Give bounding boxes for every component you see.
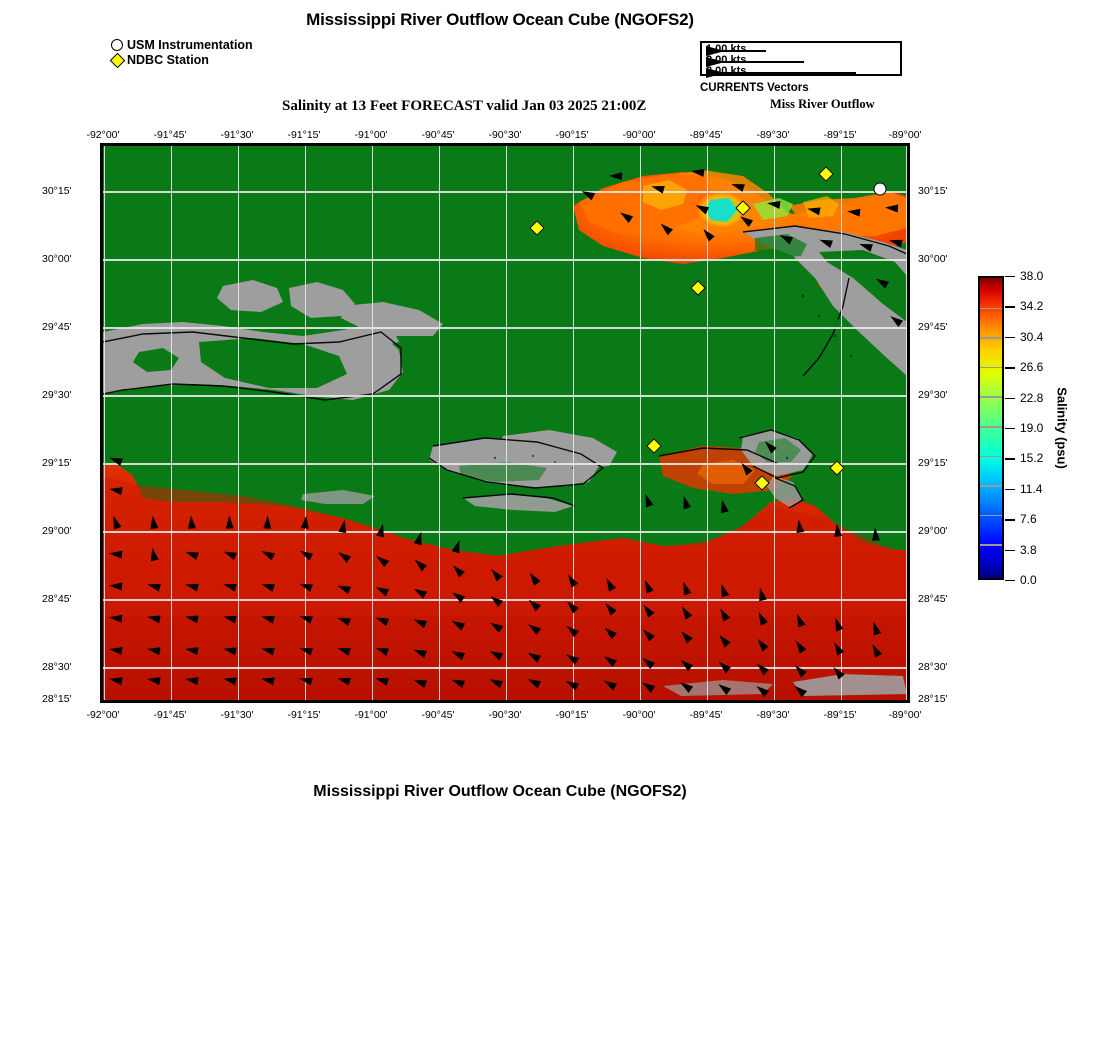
minor-tick	[116, 143, 117, 144]
minor-tick	[331, 143, 332, 144]
minor-tick	[197, 702, 198, 703]
bottom-caption: Mississippi River Outflow Ocean Cube (NG…	[0, 783, 1000, 801]
minor-tick	[773, 702, 774, 703]
y-tick-label: 29°00'	[42, 525, 72, 537]
x-tick-label: -92°00'	[86, 709, 119, 721]
minor-tick	[277, 702, 278, 703]
minor-tick	[840, 702, 841, 703]
minor-tick	[100, 268, 101, 269]
minor-tick	[411, 702, 412, 703]
minor-tick	[224, 143, 225, 144]
y-tick-label-right: 29°45'	[918, 321, 948, 333]
colorbar-tick	[1005, 337, 1015, 338]
y-tick-label-right: 30°00'	[918, 253, 948, 265]
minor-tick	[909, 472, 910, 473]
legend-item-usm: USM Instrumentation	[110, 38, 253, 52]
minor-tick	[100, 255, 101, 256]
marker-legend: USM Instrumentation NDBC Station	[110, 38, 253, 68]
minor-tick	[100, 690, 101, 691]
y-tick-label: 28°15'	[42, 693, 72, 705]
colorbar-tick	[1005, 489, 1015, 490]
y-tick-label-right: 29°30'	[918, 389, 948, 401]
minor-tick	[358, 702, 359, 703]
minor-tick	[773, 143, 774, 144]
minor-tick	[100, 200, 101, 201]
y-tick-label: 29°15'	[42, 457, 72, 469]
x-tick-label: -90°00'	[622, 709, 655, 721]
minor-tick	[438, 702, 439, 703]
minor-tick	[909, 690, 910, 691]
minor-tick	[652, 143, 653, 144]
minor-tick	[706, 702, 707, 703]
minor-tick	[909, 146, 910, 147]
minor-tick	[800, 143, 801, 144]
minor-tick	[666, 702, 667, 703]
x-tick-label: -90°30'	[488, 709, 521, 721]
minor-tick	[100, 608, 101, 609]
minor-tick	[157, 702, 158, 703]
minor-tick	[813, 702, 814, 703]
minor-tick	[224, 702, 225, 703]
x-tick-label: -92°00'	[86, 129, 119, 141]
minor-tick	[478, 143, 479, 144]
minor-tick	[304, 143, 305, 144]
minor-tick	[103, 702, 104, 703]
minor-tick	[384, 702, 385, 703]
colorbar-tick-label: 19.0	[1020, 421, 1043, 435]
minor-tick	[909, 595, 910, 596]
minor-tick	[867, 702, 868, 703]
minor-tick	[585, 143, 586, 144]
minor-tick	[559, 143, 560, 144]
minor-tick	[909, 581, 910, 582]
minor-tick	[679, 143, 680, 144]
vector-shaft-3	[706, 72, 856, 74]
x-tick-label: -91°00'	[354, 709, 387, 721]
minor-tick	[786, 702, 787, 703]
minor-tick	[894, 143, 895, 144]
colorbar-tick-label: 34.2	[1020, 299, 1043, 313]
colorbar-tick	[1005, 367, 1015, 368]
currents-vector-key: 1.00 kts 2.00 kts 3.00 kts	[700, 41, 902, 76]
minor-tick	[358, 143, 359, 144]
minor-tick	[100, 445, 101, 446]
x-tick-label: -89°30'	[756, 709, 789, 721]
minor-tick	[909, 323, 910, 324]
colorbar-gradient	[978, 276, 1004, 580]
minor-tick	[679, 702, 680, 703]
minor-tick	[909, 391, 910, 392]
minor-tick	[786, 143, 787, 144]
minor-tick	[100, 432, 101, 433]
minor-tick	[693, 702, 694, 703]
minor-tick	[880, 702, 881, 703]
minor-tick	[909, 486, 910, 487]
minor-tick	[909, 255, 910, 256]
y-tick-label-right: 30°15'	[918, 185, 948, 197]
minor-tick	[317, 143, 318, 144]
minor-tick	[559, 702, 560, 703]
minor-tick	[100, 418, 101, 419]
minor-tick	[100, 459, 101, 460]
map-canvas	[103, 146, 907, 700]
minor-tick	[909, 187, 910, 188]
circle-marker-icon	[110, 39, 124, 51]
minor-tick	[894, 702, 895, 703]
vector-head-3	[706, 68, 725, 78]
minor-tick	[909, 241, 910, 242]
minor-tick	[585, 702, 586, 703]
minor-tick	[384, 143, 385, 144]
minor-tick	[451, 702, 452, 703]
minor-tick	[909, 676, 910, 677]
colorbar-tick-label: 7.6	[1020, 512, 1037, 526]
x-tick-label: -91°45'	[153, 129, 186, 141]
x-tick-label: -91°15'	[287, 129, 320, 141]
x-tick-label: -89°45'	[689, 709, 722, 721]
minor-tick	[909, 228, 910, 229]
minor-tick	[425, 702, 426, 703]
vector-key-row-3: 3.00 kts	[702, 67, 900, 78]
minor-tick	[398, 702, 399, 703]
minor-tick	[909, 513, 910, 514]
x-tick-label: -89°15'	[823, 709, 856, 721]
minor-tick	[210, 143, 211, 144]
colorbar-tick	[1005, 458, 1015, 459]
minor-tick	[518, 143, 519, 144]
minor-tick	[100, 554, 101, 555]
y-tick-label-right: 28°30'	[918, 661, 948, 673]
minor-tick	[733, 702, 734, 703]
colorbar-tick	[1005, 398, 1015, 399]
minor-tick	[100, 296, 101, 297]
minor-tick	[371, 143, 372, 144]
minor-tick	[451, 143, 452, 144]
minor-tick	[909, 636, 910, 637]
minor-tick	[599, 702, 600, 703]
minor-tick	[130, 143, 131, 144]
minor-tick	[344, 702, 345, 703]
plot-subtitle-right: Miss River Outflow	[770, 97, 875, 112]
legend-label-ndbc: NDBC Station	[127, 54, 209, 67]
colorbar-tick-label: 22.8	[1020, 391, 1043, 405]
minor-tick	[170, 143, 171, 144]
diamond-marker-icon	[110, 55, 124, 66]
minor-tick	[398, 143, 399, 144]
y-tick-label-right: 29°15'	[918, 457, 948, 469]
minor-tick	[465, 143, 466, 144]
minor-tick	[100, 377, 101, 378]
x-tick-label: -91°00'	[354, 129, 387, 141]
minor-tick	[183, 702, 184, 703]
minor-tick	[909, 160, 910, 161]
minor-tick	[492, 143, 493, 144]
minor-tick	[626, 143, 627, 144]
minor-tick	[100, 391, 101, 392]
minor-tick	[545, 702, 546, 703]
minor-tick	[130, 702, 131, 703]
minor-tick	[827, 702, 828, 703]
x-tick-label: -90°45'	[421, 709, 454, 721]
minor-tick	[100, 500, 101, 501]
minor-tick	[100, 160, 101, 161]
minor-tick	[100, 350, 101, 351]
minor-tick	[157, 143, 158, 144]
minor-tick	[100, 595, 101, 596]
x-tick-label: -90°15'	[555, 129, 588, 141]
minor-tick	[183, 143, 184, 144]
minor-tick	[100, 364, 101, 365]
legend-label-usm: USM Instrumentation	[127, 39, 253, 52]
y-tick-label: 30°00'	[42, 253, 72, 265]
colorbar-tick-label: 3.8	[1020, 543, 1037, 557]
minor-tick	[505, 143, 506, 144]
minor-tick	[909, 200, 910, 201]
x-tick-label: -89°30'	[756, 129, 789, 141]
minor-tick	[880, 143, 881, 144]
minor-tick	[100, 336, 101, 337]
minor-tick	[425, 143, 426, 144]
minor-tick	[532, 143, 533, 144]
minor-tick	[264, 702, 265, 703]
minor-tick	[532, 702, 533, 703]
minor-tick	[827, 143, 828, 144]
minor-tick	[100, 404, 101, 405]
minor-tick	[909, 282, 910, 283]
minor-tick	[909, 350, 910, 351]
x-tick-label: -90°45'	[421, 129, 454, 141]
y-tick-label: 29°30'	[42, 389, 72, 401]
minor-tick	[100, 568, 101, 569]
minor-tick	[100, 187, 101, 188]
minor-tick	[371, 702, 372, 703]
minor-tick	[100, 540, 101, 541]
minor-tick	[100, 676, 101, 677]
y-tick-label: 28°45'	[42, 593, 72, 605]
colorbar-tick-label: 15.2	[1020, 451, 1043, 465]
y-tick-label: 29°45'	[42, 321, 72, 333]
legend-item-ndbc: NDBC Station	[110, 53, 253, 67]
x-tick-label: -91°30'	[220, 129, 253, 141]
minor-tick	[909, 527, 910, 528]
minor-tick	[639, 702, 640, 703]
minor-tick	[103, 143, 104, 144]
colorbar-tick-label: 11.4	[1020, 482, 1042, 496]
minor-tick	[652, 702, 653, 703]
minor-tick	[909, 309, 910, 310]
minor-tick	[100, 323, 101, 324]
colorbar-title: Salinity (psu)	[1055, 387, 1070, 469]
minor-tick	[909, 540, 910, 541]
minor-tick	[693, 143, 694, 144]
minor-tick	[909, 663, 910, 664]
currents-vector-caption: CURRENTS Vectors	[700, 82, 809, 94]
minor-tick	[237, 702, 238, 703]
minor-tick	[909, 432, 910, 433]
minor-tick	[599, 143, 600, 144]
minor-tick	[100, 649, 101, 650]
minor-tick	[909, 500, 910, 501]
colorbar-tick	[1005, 550, 1015, 551]
x-tick-label: -90°00'	[622, 129, 655, 141]
minor-tick	[746, 702, 747, 703]
minor-tick	[170, 702, 171, 703]
minor-tick	[143, 702, 144, 703]
minor-tick	[909, 336, 910, 337]
minor-tick	[909, 173, 910, 174]
minor-tick	[100, 486, 101, 487]
x-tick-label: -91°45'	[153, 709, 186, 721]
minor-tick	[317, 702, 318, 703]
colorbar-tick	[1005, 276, 1015, 277]
minor-tick	[344, 143, 345, 144]
minor-tick	[100, 636, 101, 637]
minor-tick	[840, 143, 841, 144]
minor-tick	[719, 702, 720, 703]
minor-tick	[304, 702, 305, 703]
minor-tick	[100, 146, 101, 147]
minor-tick	[291, 143, 292, 144]
minor-tick	[100, 581, 101, 582]
minor-tick	[746, 143, 747, 144]
x-tick-label: -90°15'	[555, 709, 588, 721]
minor-tick	[100, 663, 101, 664]
minor-tick	[100, 241, 101, 242]
minor-tick	[909, 445, 910, 446]
minor-tick	[760, 143, 761, 144]
minor-tick	[264, 143, 265, 144]
minor-tick	[909, 568, 910, 569]
minor-tick	[800, 702, 801, 703]
minor-tick	[478, 702, 479, 703]
y-tick-label-right: 29°00'	[918, 525, 948, 537]
minor-tick	[545, 143, 546, 144]
colorbar-tick	[1005, 428, 1015, 429]
colorbar-tick	[1005, 519, 1015, 520]
minor-tick	[411, 143, 412, 144]
minor-tick	[909, 268, 910, 269]
minor-tick	[909, 459, 910, 460]
x-tick-label: -89°15'	[823, 129, 856, 141]
y-tick-label-right: 28°45'	[918, 593, 948, 605]
minor-tick	[853, 143, 854, 144]
colorbar-tick-label: 30.4	[1020, 330, 1043, 344]
minor-tick	[909, 649, 910, 650]
salinity-map[interactable]	[100, 143, 910, 703]
minor-tick	[666, 143, 667, 144]
minor-tick	[100, 214, 101, 215]
minor-tick	[909, 377, 910, 378]
minor-tick	[909, 296, 910, 297]
minor-tick	[465, 702, 466, 703]
minor-tick	[760, 702, 761, 703]
minor-tick	[853, 702, 854, 703]
minor-tick	[909, 554, 910, 555]
minor-tick	[143, 143, 144, 144]
colorbar-tick-label: 38.0	[1020, 269, 1043, 283]
y-tick-label: 28°30'	[42, 661, 72, 673]
minor-tick	[197, 143, 198, 144]
x-tick-label: -89°45'	[689, 129, 722, 141]
minor-tick	[505, 702, 506, 703]
usm-instrumentation-marker[interactable]	[874, 183, 887, 196]
x-tick-label: -89°00'	[888, 709, 921, 721]
x-tick-label: -91°30'	[220, 709, 253, 721]
minor-tick	[116, 702, 117, 703]
minor-tick	[909, 622, 910, 623]
minor-tick	[706, 143, 707, 144]
minor-tick	[100, 527, 101, 528]
minor-tick	[909, 608, 910, 609]
minor-tick	[518, 702, 519, 703]
y-tick-label-right: 28°15'	[918, 693, 948, 705]
minor-tick	[100, 282, 101, 283]
y-tick-label: 30°15'	[42, 185, 72, 197]
minor-tick	[612, 702, 613, 703]
minor-tick	[331, 702, 332, 703]
minor-tick	[909, 364, 910, 365]
colorbar-tick	[1005, 580, 1015, 581]
minor-tick	[277, 143, 278, 144]
minor-tick	[639, 143, 640, 144]
minor-tick	[100, 228, 101, 229]
minor-tick	[100, 309, 101, 310]
colorbar: 38.034.230.426.622.819.015.211.47.63.80.…	[978, 276, 1004, 580]
minor-tick	[909, 404, 910, 405]
minor-tick	[100, 472, 101, 473]
minor-tick	[237, 143, 238, 144]
minor-tick	[612, 143, 613, 144]
minor-tick	[719, 143, 720, 144]
minor-tick	[438, 143, 439, 144]
minor-tick	[492, 702, 493, 703]
colorbar-tick	[1005, 306, 1015, 307]
minor-tick	[572, 702, 573, 703]
page-title: Mississippi River Outflow Ocean Cube (NG…	[0, 10, 1000, 30]
minor-tick	[100, 622, 101, 623]
minor-tick	[250, 702, 251, 703]
minor-tick	[100, 173, 101, 174]
minor-tick	[733, 143, 734, 144]
minor-tick	[210, 702, 211, 703]
x-tick-label: -91°15'	[287, 709, 320, 721]
minor-tick	[813, 143, 814, 144]
minor-tick	[867, 143, 868, 144]
colorbar-tick-label: 26.6	[1020, 360, 1043, 374]
minor-tick	[909, 214, 910, 215]
minor-tick	[572, 143, 573, 144]
minor-tick	[100, 513, 101, 514]
minor-tick	[250, 143, 251, 144]
plot-subtitle: Salinity at 13 Feet FORECAST valid Jan 0…	[282, 98, 646, 115]
minor-tick	[909, 418, 910, 419]
minor-tick	[626, 702, 627, 703]
x-tick-label: -90°30'	[488, 129, 521, 141]
x-tick-label: -89°00'	[888, 129, 921, 141]
minor-tick	[291, 702, 292, 703]
colorbar-tick-label: 0.0	[1020, 573, 1037, 587]
